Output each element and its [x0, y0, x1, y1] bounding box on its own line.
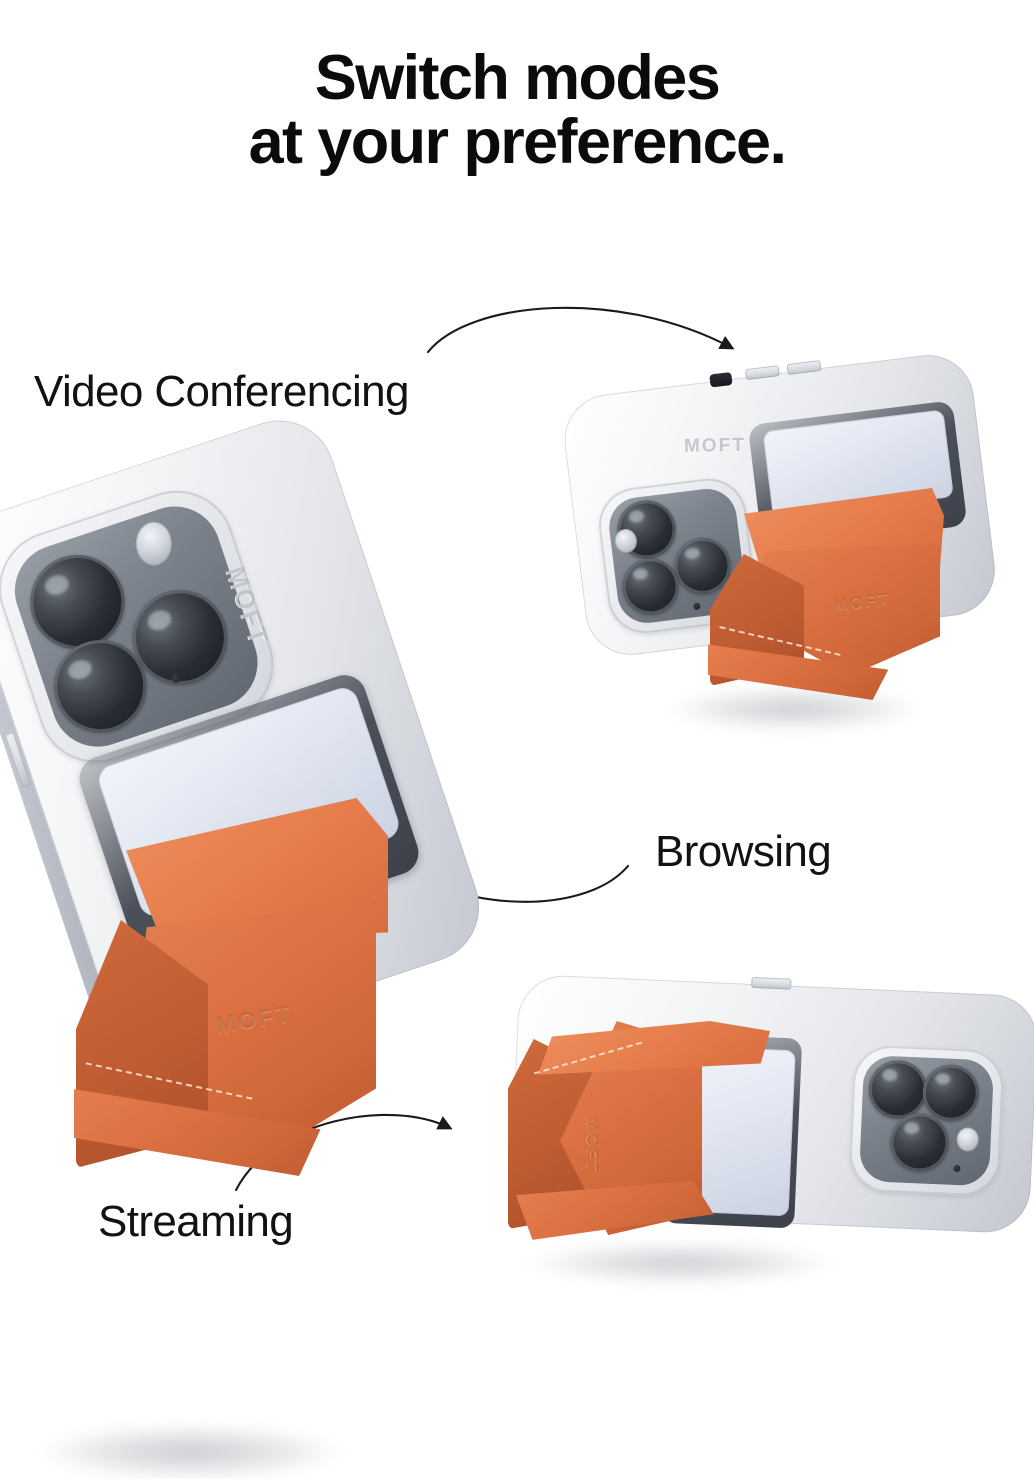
mode-label-browsing: Browsing	[655, 827, 831, 877]
moft-stand-logo: MOFT	[582, 1117, 600, 1174]
headline-line-2: at your preference.	[0, 110, 1034, 174]
camera-module	[848, 1044, 1004, 1196]
mute-switch[interactable]	[709, 372, 732, 388]
leather-stand[interactable]: MOFT	[508, 1021, 808, 1249]
device-shadow	[40, 1425, 340, 1479]
device-video-conferencing: MOFT MOFT	[0, 440, 520, 1080]
stand-card-pocket	[538, 1021, 770, 1077]
device-streaming: MOFT	[470, 975, 1030, 1285]
device-shadow	[530, 1243, 830, 1283]
headline-line-1: Switch modes	[315, 43, 719, 113]
arrow-video-to-browsing	[428, 308, 732, 352]
page-title: Switch modes at your preference.	[0, 46, 1034, 175]
mode-label-video-conferencing: Video Conferencing	[34, 367, 409, 417]
leather-stand[interactable]: MOFT	[40, 770, 400, 1170]
leather-stand[interactable]: MOFT	[696, 488, 966, 708]
mode-label-streaming: Streaming	[98, 1197, 293, 1247]
moft-case-logo: MOFT	[684, 435, 746, 458]
product-composition: Switch modes at your preference. Video C…	[0, 0, 1034, 1300]
device-browsing: MOFT MOFT	[560, 368, 1030, 728]
power-button[interactable]	[751, 977, 791, 990]
camera-flash	[136, 522, 172, 566]
